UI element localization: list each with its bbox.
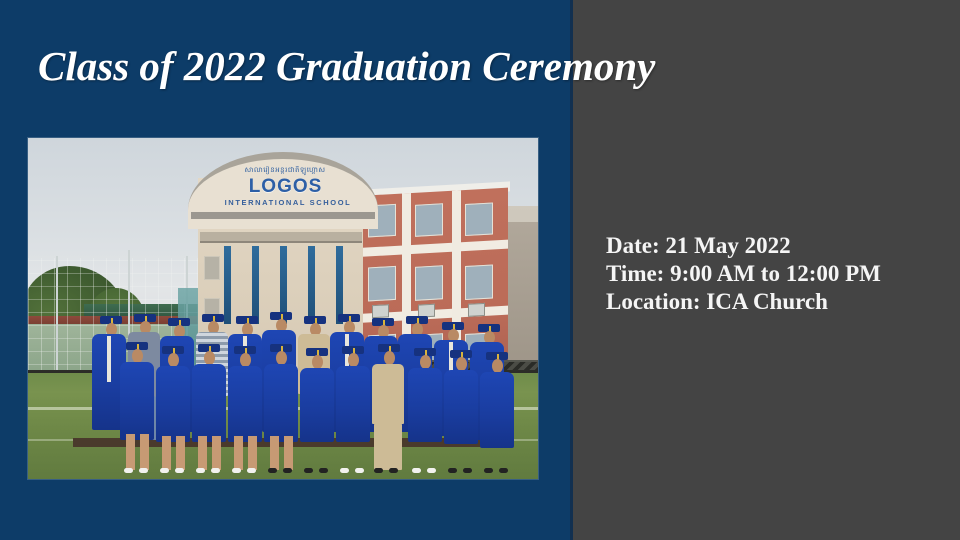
school-sign-subtitle: INTERNATIONAL SCHOOL [218, 198, 358, 207]
photo-grad-head [240, 353, 251, 367]
graduation-group-photo: សាលារៀនអន្តរជាតិឡូហ្គោស LOGOS INTERNATIO… [28, 138, 538, 479]
slide-canvas: Class of 2022 Graduation Ceremony Date: … [0, 0, 960, 540]
photo-legs [126, 434, 135, 470]
photo-grad-head [492, 359, 503, 373]
photo-shoe [463, 468, 472, 473]
photo-grad-gown [300, 368, 334, 442]
photo-shoe [283, 468, 292, 473]
photo-grad-gown [444, 370, 478, 444]
photo-attendee-shirt [372, 364, 404, 424]
photo-grad-head [312, 355, 323, 369]
photo-shoe [196, 468, 205, 473]
photo-grad-gown [336, 366, 370, 442]
photo-grad-head [204, 351, 215, 365]
photo-shoe [484, 468, 493, 473]
photo-grad-head [384, 351, 395, 365]
photo-legs [140, 434, 149, 470]
photo-legs [234, 436, 243, 470]
photo-pilaster [336, 246, 343, 324]
photo-building-canopy [200, 232, 362, 243]
photo-shoe [427, 468, 436, 473]
photo-grad-stole [107, 336, 111, 382]
photo-legs [248, 436, 257, 470]
photo-window [204, 256, 220, 280]
photo-grad-gown [480, 372, 514, 448]
photo-legs [212, 436, 221, 470]
photo-window [415, 265, 443, 301]
photo-shoe [448, 468, 457, 473]
event-date-line: Date: 21 May 2022 [606, 232, 881, 260]
photo-legs [284, 436, 293, 470]
photo-ac-unit [468, 303, 485, 317]
photo-grad-head [276, 351, 287, 365]
photo-grad-gown [264, 364, 298, 442]
photo-window [465, 202, 493, 236]
photo-legs [176, 436, 185, 470]
photo-shoe [389, 468, 398, 473]
school-sign-name: LOGOS [228, 176, 343, 198]
photo-window [465, 264, 493, 300]
photo-fence-pole [56, 256, 58, 378]
photo-roof-eave [191, 212, 375, 219]
photo-shoe [319, 468, 328, 473]
photo-pilaster [252, 246, 259, 324]
photo-shoe [340, 468, 349, 473]
photo-shoe [124, 468, 133, 473]
page-title: Class of 2022 Graduation Ceremony [38, 40, 738, 92]
photo-grad-gown [408, 368, 442, 442]
photo-grad-gown [156, 366, 190, 442]
photo-grad-head [348, 353, 359, 367]
photo-shoe [355, 468, 364, 473]
photo-grad-head [456, 357, 467, 371]
photo-shoe [160, 468, 169, 473]
photo-grad-head [132, 349, 143, 363]
photo-pilaster [308, 246, 315, 324]
photo-grad-gown [192, 364, 226, 442]
photo-shoe [211, 468, 220, 473]
event-time-line: Time: 9:00 AM to 12:00 PM [606, 260, 881, 288]
photo-grad-gown [228, 366, 262, 442]
photo-window [415, 203, 443, 237]
photo-shoe [175, 468, 184, 473]
photo-shoe [412, 468, 421, 473]
photo-red-floor-band [358, 240, 508, 257]
photo-shoe [268, 468, 277, 473]
photo-shoe [304, 468, 313, 473]
photo-legs [162, 436, 171, 470]
photo-ac-unit [372, 304, 389, 318]
photo-attendee-trousers [374, 420, 402, 470]
photo-grad-head [420, 355, 431, 369]
photo-shoe [247, 468, 256, 473]
photo-shoe [232, 468, 241, 473]
photo-window [368, 266, 396, 302]
photo-grad-gown [120, 362, 154, 440]
school-sign-khmer: សាលារៀនអន្តរជាតិឡូហ្គោស [225, 166, 345, 176]
event-location-line: Location: ICA Church [606, 288, 881, 316]
photo-shoe [499, 468, 508, 473]
photo-legs [198, 436, 207, 470]
photo-shoe [374, 468, 383, 473]
photo-grad-head [168, 353, 179, 367]
event-details-block: Date: 21 May 2022 Time: 9:00 AM to 12:00… [606, 232, 881, 316]
photo-pilaster [224, 246, 231, 324]
photo-shoe [139, 468, 148, 473]
photo-legs [270, 436, 279, 470]
